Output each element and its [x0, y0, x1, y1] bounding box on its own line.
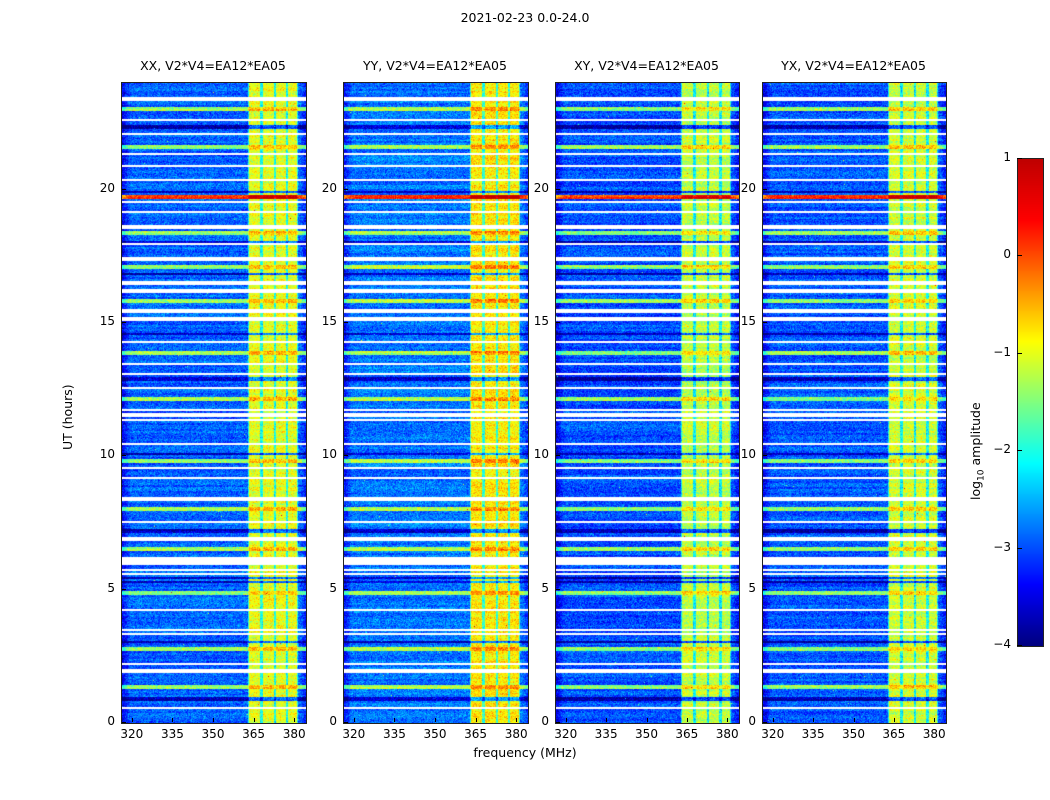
- y-tick-mark: [344, 322, 348, 323]
- y-axis-label: UT (hours): [60, 384, 75, 450]
- y-tick-label: 15: [297, 314, 337, 328]
- y-tick-label: 0: [75, 714, 115, 728]
- x-tick-label: 320: [334, 727, 374, 741]
- x-tick-mark: [254, 718, 255, 722]
- y-tick-mark: [344, 589, 348, 590]
- y-tick-mark: [556, 589, 560, 590]
- x-tick-label: 365: [874, 727, 914, 741]
- waterfall-image: [344, 83, 528, 723]
- y-tick-mark: [763, 189, 767, 190]
- y-tick-mark: [556, 722, 560, 723]
- x-tick-label: 320: [753, 727, 793, 741]
- y-tick-label: 20: [509, 181, 549, 195]
- y-tick-label: 10: [75, 447, 115, 461]
- x-tick-label: 335: [586, 727, 626, 741]
- waterfall-image: [122, 83, 306, 723]
- y-tick-label: 0: [716, 714, 756, 728]
- colorbar-tick-mark: [1017, 255, 1022, 256]
- colorbar-tick-label: 1: [981, 150, 1011, 164]
- y-tick-label: 20: [75, 181, 115, 195]
- figure-canvas: 2021-02-23 0.0-24.0 XX, V2*V4=EA12*EA05 …: [0, 0, 1050, 800]
- x-tick-mark: [606, 718, 607, 722]
- y-tick-mark: [763, 455, 767, 456]
- colorbar-tick-mark: [1017, 158, 1022, 159]
- x-tick-label: 335: [152, 727, 192, 741]
- waterfall-image: [763, 83, 946, 723]
- x-tick-mark: [132, 718, 133, 722]
- y-tick-mark: [122, 589, 126, 590]
- y-tick-label: 10: [509, 447, 549, 461]
- x-tick-mark: [172, 718, 173, 722]
- y-tick-mark: [122, 455, 126, 456]
- x-tick-label: 350: [415, 727, 455, 741]
- x-axis-label: frequency (MHz): [0, 745, 1050, 760]
- colorbar-tick-mark: [1017, 645, 1022, 646]
- x-tick-label: 320: [112, 727, 152, 741]
- x-tick-mark: [294, 718, 295, 722]
- colorbar-tick-mark: [1017, 353, 1022, 354]
- y-tick-mark: [122, 189, 126, 190]
- colorbar-label-main: log: [968, 481, 983, 500]
- colorbar[interactable]: [1017, 158, 1044, 647]
- y-tick-mark: [344, 455, 348, 456]
- colorbar-tick-mark: [1017, 548, 1022, 549]
- y-tick-mark: [122, 722, 126, 723]
- x-tick-label: 350: [627, 727, 667, 741]
- y-tick-label: 15: [716, 314, 756, 328]
- y-tick-mark: [556, 322, 560, 323]
- x-tick-mark: [354, 718, 355, 722]
- x-tick-label: 365: [667, 727, 707, 741]
- x-tick-label: 350: [193, 727, 233, 741]
- x-tick-mark: [934, 718, 935, 722]
- y-tick-label: 5: [716, 581, 756, 595]
- y-tick-mark: [122, 322, 126, 323]
- x-tick-mark: [813, 718, 814, 722]
- y-tick-label: 5: [509, 581, 549, 595]
- x-tick-label: 335: [793, 727, 833, 741]
- x-tick-label: 350: [834, 727, 874, 741]
- x-tick-mark: [566, 718, 567, 722]
- panel-title-xy: XY, V2*V4=EA12*EA05: [555, 58, 738, 73]
- y-tick-mark: [556, 455, 560, 456]
- colorbar-tick-label: 0: [981, 247, 1011, 261]
- x-tick-label: 365: [234, 727, 274, 741]
- y-tick-label: 10: [716, 447, 756, 461]
- x-tick-mark: [894, 718, 895, 722]
- y-tick-label: 20: [716, 181, 756, 195]
- x-tick-label: 380: [914, 727, 954, 741]
- x-tick-mark: [647, 718, 648, 722]
- y-tick-label: 5: [75, 581, 115, 595]
- waterfall-panel-xx[interactable]: [121, 82, 307, 724]
- y-tick-mark: [556, 189, 560, 190]
- y-tick-label: 5: [297, 581, 337, 595]
- colorbar-tick-label: −4: [981, 637, 1011, 651]
- colorbar-label: log10 amplitude: [968, 402, 987, 500]
- x-tick-label: 380: [496, 727, 536, 741]
- y-tick-mark: [763, 589, 767, 590]
- x-tick-mark: [773, 718, 774, 722]
- colorbar-tick-mark: [1017, 450, 1022, 451]
- waterfall-panel-yy[interactable]: [343, 82, 529, 724]
- y-tick-mark: [763, 722, 767, 723]
- x-tick-label: 380: [274, 727, 314, 741]
- waterfall-image: [556, 83, 739, 723]
- y-tick-label: 15: [75, 314, 115, 328]
- y-tick-mark: [763, 322, 767, 323]
- waterfall-panel-xy[interactable]: [555, 82, 740, 724]
- y-tick-label: 15: [509, 314, 549, 328]
- y-tick-label: 20: [297, 181, 337, 195]
- x-tick-label: 320: [546, 727, 586, 741]
- colorbar-label-sub: 10: [977, 469, 987, 480]
- x-tick-mark: [435, 718, 436, 722]
- panel-title-yy: YY, V2*V4=EA12*EA05: [343, 58, 527, 73]
- y-tick-label: 0: [509, 714, 549, 728]
- x-tick-label: 365: [456, 727, 496, 741]
- x-tick-mark: [687, 718, 688, 722]
- panel-title-xx: XX, V2*V4=EA12*EA05: [121, 58, 305, 73]
- x-tick-label: 335: [374, 727, 414, 741]
- x-tick-mark: [213, 718, 214, 722]
- x-tick-mark: [476, 718, 477, 722]
- colorbar-tick-label: −1: [981, 345, 1011, 359]
- x-tick-mark: [854, 718, 855, 722]
- y-tick-label: 0: [297, 714, 337, 728]
- y-tick-mark: [344, 722, 348, 723]
- waterfall-panel-yx[interactable]: [762, 82, 947, 724]
- panel-title-yx: YX, V2*V4=EA12*EA05: [762, 58, 945, 73]
- y-tick-mark: [344, 189, 348, 190]
- x-tick-label: 380: [707, 727, 747, 741]
- colorbar-label-tail: amplitude: [968, 402, 983, 469]
- colorbar-gradient: [1018, 159, 1043, 646]
- x-tick-mark: [394, 718, 395, 722]
- y-tick-label: 10: [297, 447, 337, 461]
- colorbar-tick-label: −3: [981, 540, 1011, 554]
- figure-suptitle: 2021-02-23 0.0-24.0: [0, 10, 1050, 25]
